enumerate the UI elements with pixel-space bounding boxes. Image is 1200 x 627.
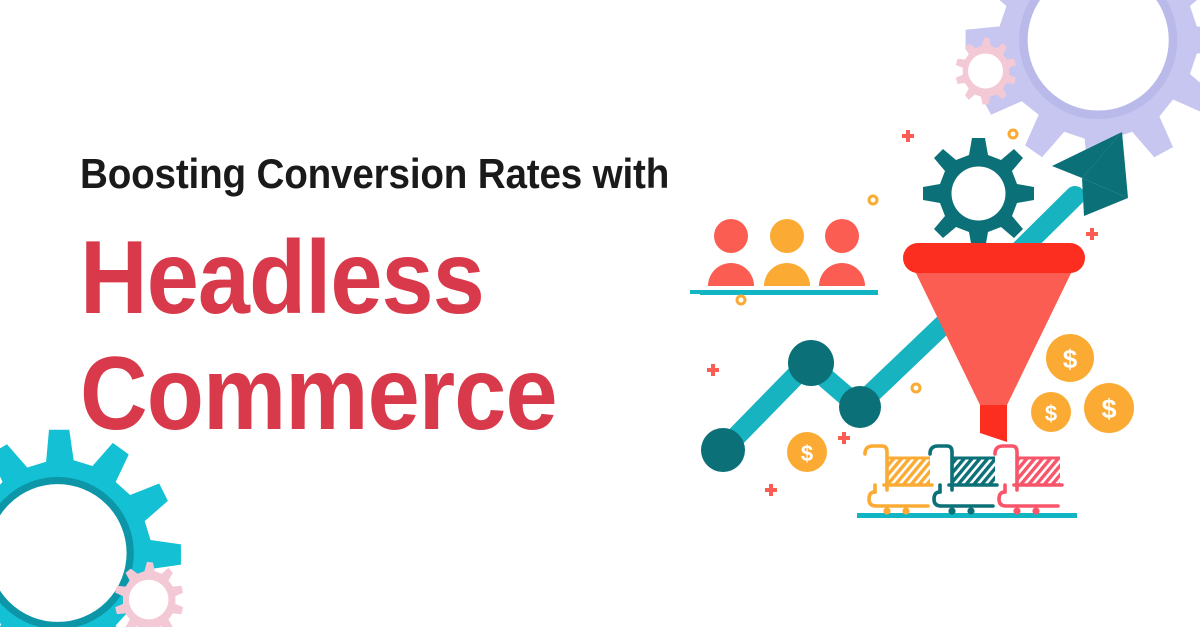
conversion-funnel-illustration: $ $ $ $ <box>690 120 1140 550</box>
cart-orange-icon <box>865 446 932 515</box>
coin-label: $ <box>1063 344 1078 374</box>
audience-people-graphic <box>700 219 878 295</box>
plus-mark-icon <box>707 364 719 376</box>
headline-kicker: Boosting Conversion Rates with <box>80 150 650 198</box>
headline-block: Boosting Conversion Rates with Headless … <box>80 150 700 446</box>
ring-mark-icon <box>912 384 920 392</box>
coin-far-right: $ <box>1084 383 1134 433</box>
cart-red-icon <box>995 446 1062 515</box>
coin-mid-right: $ <box>1031 392 1071 432</box>
dash-mark-icon <box>690 290 707 294</box>
banner-canvas: Boosting Conversion Rates with Headless … <box>0 0 1200 627</box>
gear-pink-top-right-icon <box>946 36 1022 117</box>
coin-small-left: $ <box>787 432 827 472</box>
headline-line-1: Headless <box>80 226 638 330</box>
decor-dashes-graphic <box>690 290 707 294</box>
plus-mark-icon <box>1086 228 1098 240</box>
settings-gear-icon <box>923 138 1034 249</box>
plus-mark-icon <box>765 484 777 496</box>
ring-mark-icon <box>1009 130 1017 138</box>
coin-label: $ <box>1101 394 1116 424</box>
ring-mark-icon <box>869 196 877 204</box>
ring-mark-icon <box>737 296 745 304</box>
coin-top-right: $ <box>1046 334 1094 382</box>
gear-cyan-bottom-left-icon <box>0 424 194 627</box>
coin-label: $ <box>801 441 813 466</box>
coin-label: $ <box>1045 401 1057 426</box>
gear-pink-bottom-left-icon <box>104 560 190 627</box>
cart-teal-icon <box>930 446 997 515</box>
shopping-carts-graphic <box>857 446 1077 518</box>
plus-mark-icon <box>902 130 914 142</box>
headline-line-2: Commerce <box>80 342 638 446</box>
plus-mark-icon <box>838 432 850 444</box>
